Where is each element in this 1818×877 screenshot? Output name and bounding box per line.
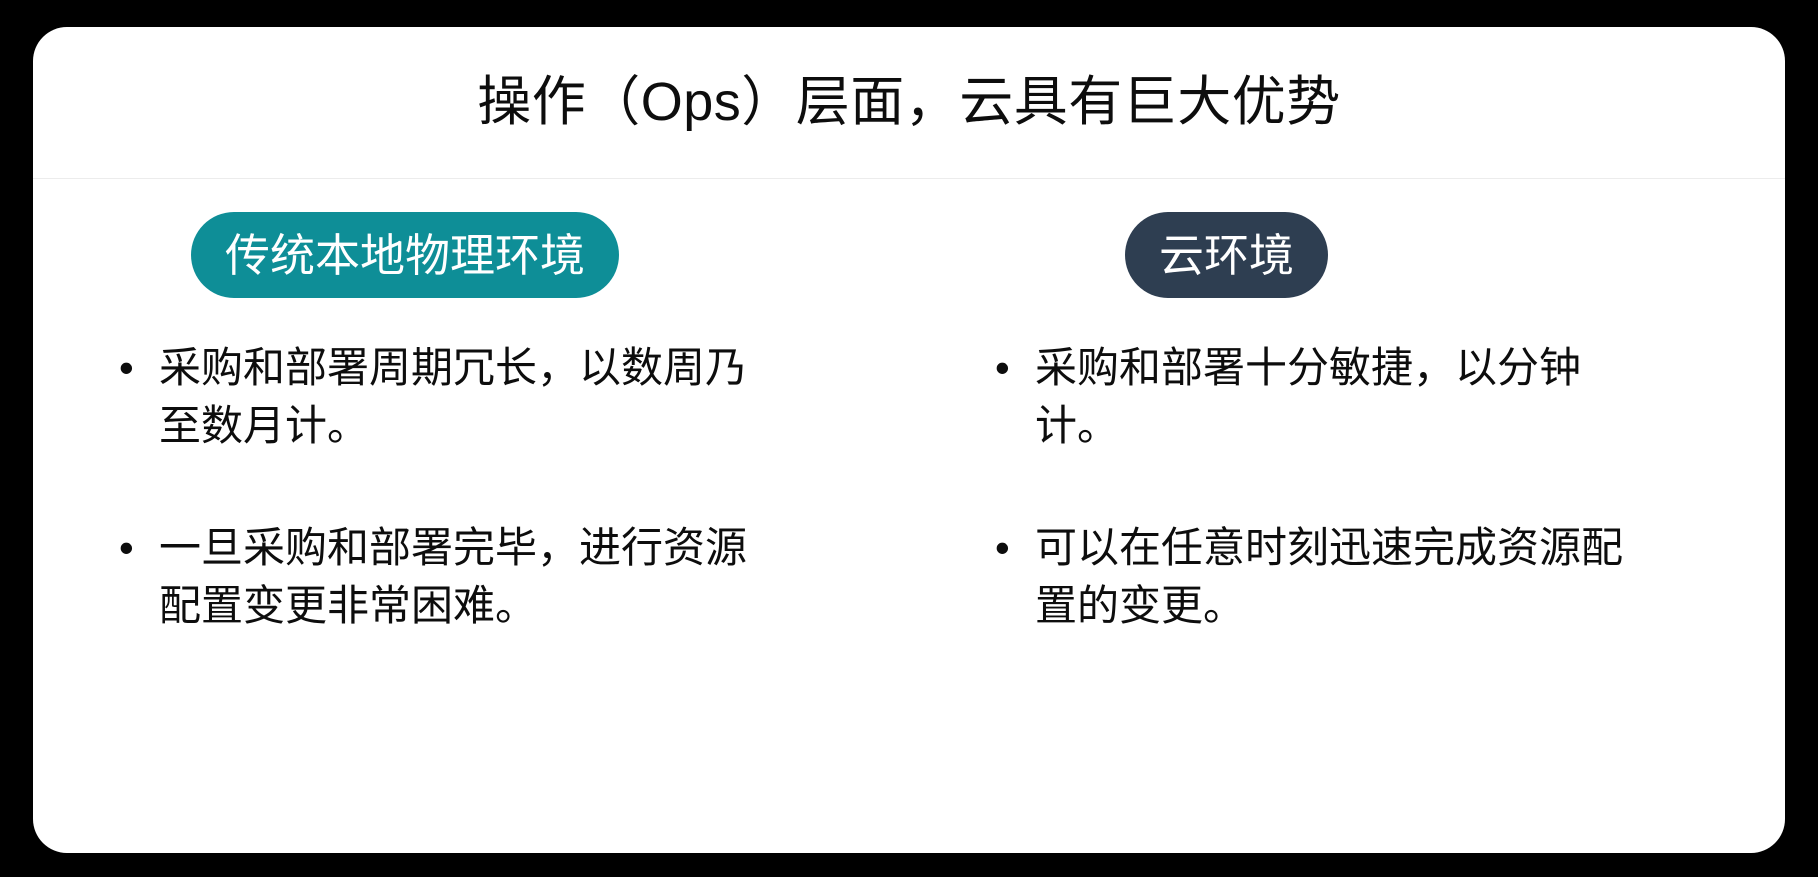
list-item: • 可以在任意时刻迅速完成资源配置的变更。 bbox=[995, 519, 1755, 635]
bullet-marker-icon: • bbox=[119, 519, 159, 577]
list-item: • 采购和部署周期冗长，以数周乃至数月计。 bbox=[119, 339, 879, 455]
slide-card: 操作（Ops）层面，云具有巨大优势 传统本地物理环境 • 采购和部署周期冗长，以… bbox=[33, 27, 1785, 853]
slide-title-bar: 操作（Ops）层面，云具有巨大优势 bbox=[33, 27, 1785, 179]
list-item: • 一旦采购和部署完毕，进行资源配置变更非常困难。 bbox=[119, 519, 879, 635]
column-header-pill-cloud: 云环境 bbox=[1125, 212, 1328, 298]
bullet-list-cloud: • 采购和部署十分敏捷，以分钟计。 • 可以在任意时刻迅速完成资源配置的变更。 bbox=[995, 339, 1755, 635]
bullet-list-on-premises: • 采购和部署周期冗长，以数周乃至数月计。 • 一旦采购和部署完毕，进行资源配置… bbox=[119, 339, 879, 635]
column-cloud: 云环境 • 采购和部署十分敏捷，以分钟计。 • 可以在任意时刻迅速完成资源配置的… bbox=[909, 179, 1785, 853]
bullet-marker-icon: • bbox=[995, 519, 1035, 577]
pill-label-on-premises: 传统本地物理环境 bbox=[225, 233, 585, 278]
bullet-text: 采购和部署周期冗长，以数周乃至数月计。 bbox=[159, 339, 759, 455]
bullet-marker-icon: • bbox=[119, 339, 159, 397]
column-on-premises: 传统本地物理环境 • 采购和部署周期冗长，以数周乃至数月计。 • 一旦采购和部署… bbox=[33, 179, 909, 853]
page-title: 操作（Ops）层面，云具有巨大优势 bbox=[477, 73, 1341, 132]
list-item: • 采购和部署十分敏捷，以分钟计。 bbox=[995, 339, 1755, 455]
comparison-columns: 传统本地物理环境 • 采购和部署周期冗长，以数周乃至数月计。 • 一旦采购和部署… bbox=[33, 179, 1785, 853]
bullet-text: 一旦采购和部署完毕，进行资源配置变更非常困难。 bbox=[159, 519, 759, 635]
pill-label-cloud: 云环境 bbox=[1159, 233, 1294, 278]
bullet-marker-icon: • bbox=[995, 339, 1035, 397]
column-header-pill-on-premises: 传统本地物理环境 bbox=[191, 212, 619, 298]
bullet-text: 可以在任意时刻迅速完成资源配置的变更。 bbox=[1035, 519, 1635, 635]
bullet-text: 采购和部署十分敏捷，以分钟计。 bbox=[1035, 339, 1635, 455]
